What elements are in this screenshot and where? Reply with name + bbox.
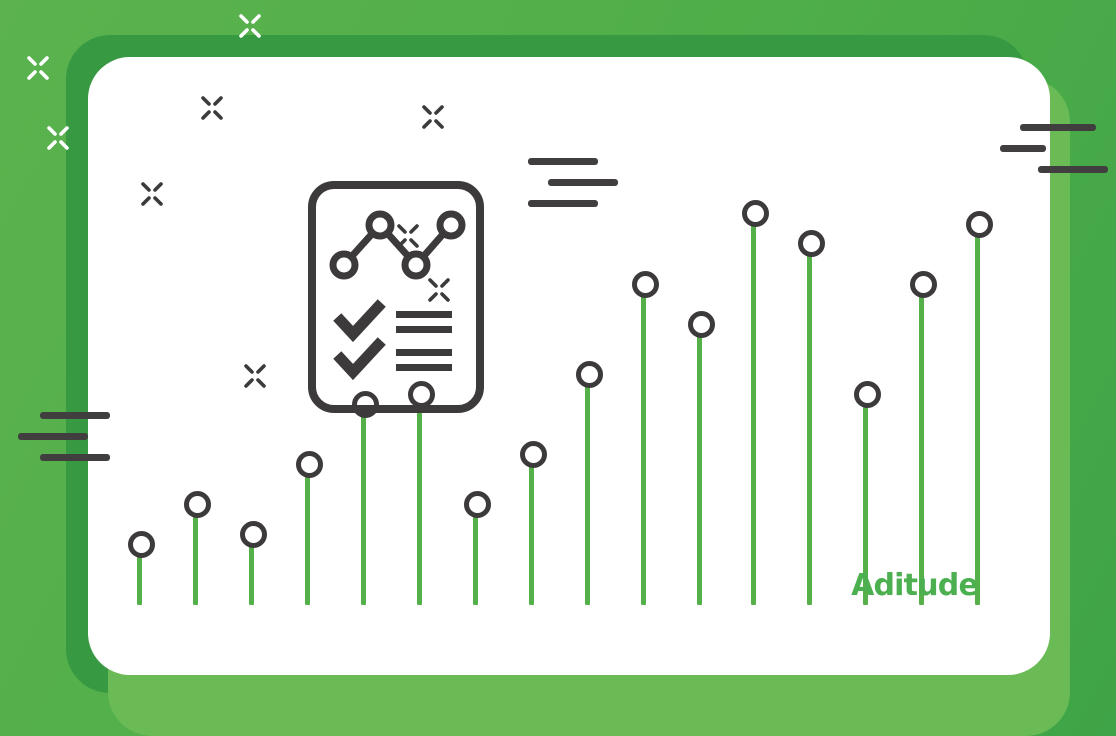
- chart-stem-line: [193, 504, 198, 605]
- right-lines: [1008, 124, 1108, 187]
- chart-data-point-marker: [910, 271, 937, 298]
- chart-data-point-marker: [798, 230, 825, 257]
- report-document-icon: [308, 181, 484, 418]
- sparkle-x-icon: [137, 179, 167, 214]
- decorative-bar: [528, 200, 598, 207]
- checkmark-icon: [341, 307, 378, 334]
- chart-data-point-marker: [240, 521, 267, 548]
- chart-stem-line: [697, 324, 702, 605]
- checklist-line: [396, 326, 452, 333]
- decorative-bar: [40, 412, 110, 419]
- chart-stem-line: [305, 464, 310, 605]
- icon-chart-node: [440, 214, 462, 236]
- chart-data-point-marker: [184, 491, 211, 518]
- chart-stem-line: [975, 224, 980, 605]
- chart-stem-line: [417, 394, 422, 605]
- poster-canvas: Aditude: [0, 0, 1116, 736]
- chart-data-point-marker: [128, 531, 155, 558]
- decorative-bar: [1020, 124, 1096, 131]
- chart-data-point-marker: [966, 211, 993, 238]
- chart-stem-line: [361, 404, 366, 605]
- sparkle-x-icon: [393, 221, 423, 256]
- chart-data-point-marker: [632, 271, 659, 298]
- chart-data-point-marker: [520, 441, 547, 468]
- chart-stem-line: [473, 504, 478, 605]
- sparkle-x-icon: [235, 11, 265, 46]
- sparkle-x-icon: [43, 123, 73, 158]
- checkmark-icon: [341, 345, 378, 372]
- decorative-bar: [1038, 166, 1108, 173]
- center-lines: [528, 158, 618, 221]
- sparkle-x-icon: [197, 93, 227, 128]
- sparkle-x-icon: [240, 361, 270, 396]
- icon-chart-node: [369, 214, 391, 236]
- chart-stem-line: [807, 243, 812, 605]
- left-lines: [18, 412, 110, 475]
- chart-stem-line: [529, 454, 534, 605]
- icon-chart-node: [333, 254, 355, 276]
- checklist-line: [396, 364, 452, 371]
- chart-data-point-marker: [576, 361, 603, 388]
- brand-logo: Aditude: [851, 568, 978, 603]
- sparkle-x-icon: [23, 53, 53, 88]
- content-card: Aditude: [88, 57, 1050, 675]
- checklist-line: [396, 311, 452, 318]
- sparkle-x-icon: [424, 275, 454, 310]
- chart-stem-line: [641, 284, 646, 605]
- decorative-bar: [528, 158, 598, 165]
- decorative-bar: [18, 433, 88, 440]
- chart-data-point-marker: [742, 200, 769, 227]
- icon-chart-node: [405, 254, 427, 276]
- chart-data-point-marker: [688, 311, 715, 338]
- sparkle-x-icon: [418, 102, 448, 137]
- chart-stem-line: [585, 374, 590, 605]
- chart-data-point-marker: [854, 381, 881, 408]
- checklist-line: [396, 349, 452, 356]
- chart-data-point-marker: [464, 491, 491, 518]
- decorative-bar: [1000, 145, 1046, 152]
- decorative-bar: [40, 454, 110, 461]
- decorative-bar: [548, 179, 618, 186]
- chart-data-point-marker: [296, 451, 323, 478]
- chart-stem-line: [751, 213, 756, 605]
- chart-stem-line: [919, 284, 924, 605]
